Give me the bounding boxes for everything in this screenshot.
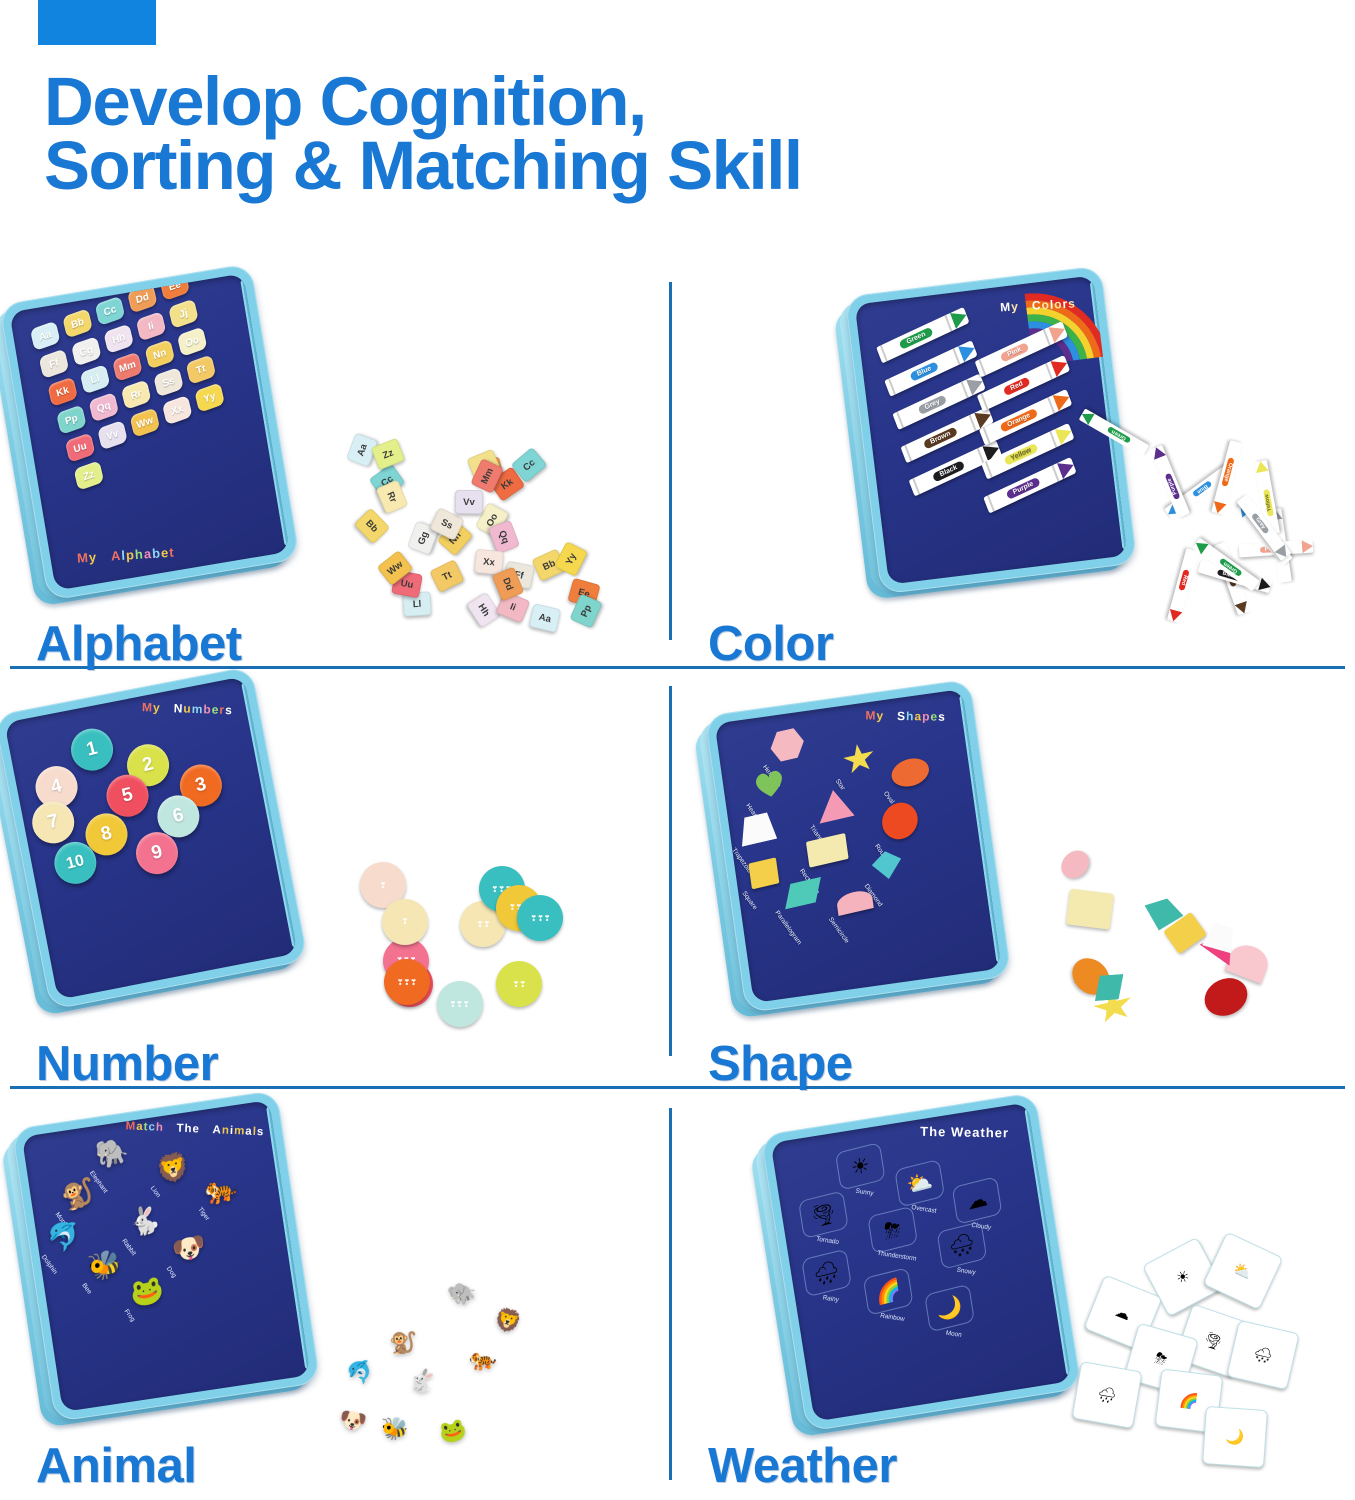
panel-label-alphabet: Alphabet (36, 616, 242, 672)
animal-tiger[interactable]: 🐅Tiger (202, 1174, 239, 1206)
crayon-label: Yellow (1003, 443, 1039, 467)
loose-animal-sticker[interactable]: 🐝 (372, 1406, 419, 1453)
alphabet-tile[interactable]: Yy (194, 382, 225, 412)
page-title: Develop Cognition, Sorting & Matching Sk… (44, 70, 1144, 198)
alphabet-tile[interactable]: Jj (168, 299, 199, 329)
loose-felt-shape[interactable] (1056, 845, 1095, 884)
weather-book-title: The Weather (920, 1124, 1009, 1141)
weather-icon: ⛈ (883, 1218, 903, 1243)
crayon-label: Purple (1164, 473, 1180, 500)
shape-semicircle[interactable]: Semicircle (836, 890, 874, 915)
alphabet-tile[interactable]: Mm (112, 352, 143, 382)
animal-icon: 🐬 (46, 1220, 83, 1255)
book-cover-face: My Numbers 12345678910 (4, 676, 297, 999)
alphabet-book-title: My Alphabet (77, 545, 175, 566)
counting-disc[interactable]: ❣❣❣ (384, 959, 430, 1005)
panel-label-color: Color (708, 616, 833, 672)
animal-icon: 🐸 (128, 1274, 165, 1309)
animal-label: Bee (80, 1282, 93, 1295)
crayon-label: Red (1179, 570, 1190, 591)
alphabet-tile[interactable]: Rr (121, 379, 152, 409)
feature-grid: AaBbCcDdEeFfGgHhIiJjKkLlMmNnOoPpQqRrSsTt… (0, 268, 1355, 1500)
alphabet-tile[interactable]: Xx (162, 395, 193, 425)
loose-animal-stickers: 🐘🦁🐒🐅🐬🐇🐶🐝🐸 (320, 1258, 610, 1468)
alphabet-tile[interactable]: Tt (186, 354, 217, 384)
accent-block (38, 0, 156, 45)
animal-bee[interactable]: 🐝Bee (86, 1250, 123, 1282)
weather-slot-snowy[interactable]: 🌨Snowy (937, 1221, 988, 1270)
panel-number[interactable]: My Numbers 12345678910 ❣❣❣❣❣❣❣❣❣❣❣❣❣❣❣❣❣… (0, 678, 669, 1098)
animal-icon: 🐇 (126, 1204, 163, 1239)
weather-slot-rainy[interactable]: 🌧Rainy (801, 1249, 852, 1298)
weather-slot-thunderstorm[interactable]: ⛈Thunderstorm (867, 1206, 918, 1255)
animal-icon: 🐝 (86, 1248, 123, 1283)
panel-shape[interactable]: My Shapes HexagonStarHeartOvalTriangleTr… (672, 678, 1355, 1098)
crayon-label: Blue (909, 361, 939, 382)
shape-diamond[interactable]: Diamond (870, 849, 904, 881)
loose-letter-tile[interactable]: Vv (455, 490, 483, 514)
alphabet-tile[interactable]: Ii (136, 311, 167, 341)
alphabet-tile[interactable]: Bb (62, 308, 93, 338)
animal-dolphin[interactable]: 🐬Dolphin (45, 1222, 82, 1254)
alphabet-tile[interactable]: Ff (39, 349, 70, 379)
alphabet-book: AaBbCcDdEeFfGgHhIiJjKkLlMmNnOoPpQqRrSsTt… (0, 263, 300, 601)
book-cover-face: My Shapes HexagonStarHeartOvalTriangleTr… (715, 689, 1002, 1003)
animal-label: Dolphin (40, 1254, 59, 1276)
shape-label: Parallelogram (773, 910, 802, 947)
alphabet-tile[interactable]: Kk (47, 377, 78, 407)
weather-slot-overcast[interactable]: ⛅Overcast (894, 1159, 945, 1208)
weather-label: Rainbow (870, 1311, 914, 1324)
book-cover: My Numbers 12345678910 (0, 666, 308, 1010)
animal-label: Lion (149, 1185, 162, 1199)
animal-elephant[interactable]: 🐘Elephant (93, 1138, 130, 1170)
counting-disc[interactable]: ❣ (382, 899, 428, 945)
book-cover: My Shapes HexagonStarHeartOvalTriangleTr… (704, 679, 1011, 1013)
alphabet-tile[interactable]: Nn (144, 339, 175, 369)
weather-label: Tornado (806, 1234, 850, 1247)
zipper (241, 682, 298, 948)
loose-animal-sticker[interactable]: 🐸 (425, 1403, 481, 1459)
panel-color[interactable]: My Colors GreenBlueGreyBrownBlack PinkRe… (672, 268, 1355, 678)
zipper (240, 279, 289, 546)
panel-label-animal: Animal (36, 1438, 196, 1494)
weather-icon: ☀ (849, 1154, 871, 1179)
weather-label: Snowy (944, 1265, 988, 1278)
weather-flashcard[interactable]: 🌨 (1226, 1320, 1299, 1390)
zipper (1024, 1108, 1071, 1376)
number-book-title: My Numbers (142, 700, 233, 717)
animal-icon: 🐘 (94, 1136, 131, 1171)
book-cover: AaBbCcDdEeFfGgHhIiJjKkLlMmNnOoPpQqRrSsTt… (0, 263, 300, 601)
loose-crayon-red[interactable]: Red (1167, 548, 1199, 623)
alphabet-tile[interactable]: Pp (56, 404, 87, 434)
weather-icon: 🌙 (935, 1295, 964, 1322)
weather-icon: ☁ (965, 1188, 989, 1214)
loose-felt-shapes (1052, 848, 1327, 1048)
counting-disc[interactable]: ❣❣❣ (517, 895, 563, 941)
counting-disc[interactable]: ❣❣ (496, 961, 542, 1007)
animal-label: Dog (165, 1265, 178, 1279)
shape-label: Square (740, 890, 758, 911)
crayon-label: Yellow (1263, 489, 1274, 517)
number-book: My Numbers 12345678910 (0, 666, 308, 1010)
panel-label-number: Number (36, 1036, 218, 1092)
headline-line-2: Sorting & Matching Skill (44, 134, 1144, 198)
weather-slot-moon[interactable]: 🌙Moon (924, 1284, 975, 1333)
weather-label: Moon (932, 1328, 976, 1341)
shape-square[interactable]: Square (748, 859, 779, 889)
animal-frog[interactable]: 🐸Frog (128, 1276, 165, 1308)
shape-star[interactable]: Star (841, 742, 877, 776)
shape-book-title: My Shapes (865, 708, 946, 723)
book-cover-face: The Weather ☀Sunny⛅Overcast☁Cloudy🌪Torna… (771, 1102, 1072, 1421)
weather-flashcard[interactable]: ⛅ (1203, 1232, 1284, 1311)
weather-slot-sunny[interactable]: ☀Sunny (835, 1142, 886, 1191)
alphabet-tile[interactable]: Ll (80, 364, 111, 394)
panel-alphabet[interactable]: AaBbCcDdEeFfGgHhIiJjKkLlMmNnOoPpQqRrSsTt… (0, 268, 669, 678)
alphabet-tile-grid: AaBbCcDdEeFfGgHhIiJjKkLlMmNnOoPpQqRrSsTt… (9, 273, 243, 312)
weather-icon: 🌈 (874, 1278, 903, 1305)
animal-icon: 🐅 (202, 1172, 239, 1207)
loose-letter-tile[interactable]: Tt (429, 559, 465, 593)
grid-row-3: Match The Animals 🐘Elephant🦁Lion🐒Monkey🐅… (0, 1098, 1355, 1500)
panel-weather[interactable]: The Weather ☀Sunny⛅Overcast☁Cloudy🌪Torna… (672, 1098, 1355, 1500)
animal-book-title: Match The Animals (126, 1120, 265, 1138)
loose-felt-shape[interactable] (1199, 972, 1254, 1023)
crayon-label: Brown (923, 426, 959, 450)
alphabet-tile[interactable]: Uu (65, 432, 96, 462)
alphabet-tile[interactable]: Ww (130, 407, 161, 437)
shape-rectangle[interactable]: Rectangle (806, 835, 849, 866)
weather-icon: ⛅ (905, 1170, 934, 1197)
alphabet-tile[interactable]: Dd (127, 283, 158, 313)
book-cover: Match The Animals 🐘Elephant🦁Lion🐒Monkey🐅… (12, 1090, 321, 1422)
animal-icon: 🐶 (171, 1232, 208, 1267)
animal-rabbit[interactable]: 🐇Rabbit (126, 1205, 163, 1237)
panel-animal[interactable]: Match The Animals 🐘Elephant🦁Lion🐒Monkey🐅… (0, 1098, 669, 1500)
alphabet-tile[interactable]: Ee (159, 273, 190, 301)
loose-weather-flashcards: ☀⛅☁🌪⛈🌨🌧🌈🌙 (1072, 1238, 1352, 1468)
weather-icon: 🌧 (812, 1259, 841, 1286)
shape-oval[interactable]: Oval (890, 756, 931, 788)
animal-label: Frog (123, 1308, 137, 1323)
weather-icon: 🌪 (809, 1201, 838, 1228)
weather-book: The Weather ☀Sunny⛅Overcast☁Cloudy🌪Torna… (760, 1092, 1082, 1432)
loose-crayon-pieces: GreenBlueGreyBrownBlackPinkRedOrangeYell… (1072, 418, 1342, 628)
zipper (959, 694, 1001, 962)
shape-trapezoid[interactable]: Trapezoid (738, 812, 778, 845)
animal-label: Rabbit (120, 1238, 137, 1257)
crayon-label: Purple (1005, 477, 1041, 501)
weather-slot-rainbow[interactable]: 🌈Rainbow (863, 1267, 914, 1316)
animal-book: Match The Animals 🐘Elephant🦁Lion🐒Monkey🐅… (12, 1090, 321, 1422)
alphabet-tile[interactable]: Ss (153, 367, 184, 397)
animal-label: Tiger (196, 1206, 210, 1222)
animal-icon: 🐒 (59, 1178, 96, 1213)
crayon-label: Orange (1222, 457, 1235, 487)
counting-disc[interactable]: ❣❣❣ (437, 981, 483, 1027)
weather-label: Sunny (843, 1186, 887, 1199)
alphabet-tile[interactable]: Cc (95, 296, 126, 326)
panel-label-shape: Shape (708, 1036, 853, 1092)
weather-icon: 🌨 (947, 1232, 976, 1259)
alphabet-tile[interactable]: Qq (88, 392, 119, 422)
loose-counting-discs: ❣❣❣❣❣❣❣❣❣❣❣❣❣❣❣❣❣❣❣❣❣❣❣❣❣ (350, 856, 610, 1046)
animal-lion[interactable]: 🦁Lion (154, 1153, 191, 1185)
alphabet-tile[interactable]: Oo (177, 326, 208, 356)
crayon-label: Green (1106, 426, 1131, 444)
loose-letter-tile[interactable]: Bb (353, 508, 390, 545)
zipper (266, 1106, 310, 1370)
weather-slot-cloudy[interactable]: ☁Cloudy (952, 1176, 1003, 1225)
number-circle-7[interactable]: 7 (28, 797, 79, 848)
panel-label-weather: Weather (708, 1438, 897, 1494)
shape-parallelogram[interactable]: Parallelogram (782, 878, 825, 907)
crayon-label: Red (1003, 376, 1031, 396)
crayon-label: Orange (1000, 408, 1038, 433)
alphabet-tile[interactable]: Vv (97, 420, 128, 450)
number-circle-1[interactable]: 1 (67, 724, 118, 775)
animal-dog[interactable]: 🐶Dog (170, 1233, 207, 1265)
book-cover: The Weather ☀Sunny⛅Overcast☁Cloudy🌪Torna… (760, 1092, 1082, 1432)
animal-icon: 🦁 (155, 1151, 192, 1186)
crayon-label: Blue (1192, 480, 1213, 498)
crayon-label: Grey (917, 394, 947, 415)
crayon-label: Black (932, 460, 965, 482)
weather-label: Thunderstorm (875, 1250, 919, 1263)
book-cover-face: Match The Animals 🐘Elephant🦁Lion🐒Monkey🐅… (22, 1100, 310, 1412)
loose-letter-tiles: AaBbCcDdEeFfGgHhIiJjKkLlMmNnOoPpQqRrSsTt… (330, 428, 630, 648)
weather-flashcard[interactable]: 🌧 (1071, 1361, 1142, 1429)
grid-row-2: My Numbers 12345678910 ❣❣❣❣❣❣❣❣❣❣❣❣❣❣❣❣❣… (0, 678, 1355, 1098)
shape-label: Semicircle (827, 916, 850, 944)
alphabet-tile[interactable]: Hh (103, 324, 134, 354)
weather-flashcard[interactable]: 🌙 (1202, 1406, 1268, 1468)
shape-triangle[interactable]: Triangle (815, 787, 855, 822)
shape-book: My Shapes HexagonStarHeartOvalTriangleTr… (704, 679, 1011, 1013)
grid-row-1: AaBbCcDdEeFfGgHhIiJjKkLlMmNnOoPpQqRrSsTt… (0, 268, 1355, 678)
weather-slot-tornado[interactable]: 🌪Tornado (798, 1190, 849, 1239)
shape-round[interactable]: Round (880, 801, 921, 842)
animal-monkey[interactable]: 🐒Monkey (59, 1179, 96, 1211)
rainbow-graphic (949, 276, 1113, 374)
alphabet-tile[interactable]: Zz (74, 460, 105, 490)
alphabet-tile[interactable]: Aa (30, 321, 61, 351)
crayon-label: Green (899, 327, 933, 350)
weather-label: Rainy (809, 1292, 853, 1305)
loose-animal-sticker[interactable]: 🐅 (457, 1333, 510, 1386)
shape-heart[interactable]: Heart (752, 769, 788, 801)
loose-felt-shape[interactable] (1066, 889, 1114, 930)
alphabet-tile[interactable]: Gg (71, 336, 102, 366)
book-cover-face: AaBbCcDdEeFfGgHhIiJjKkLlMmNnOoPpQqRrSsTt… (9, 273, 289, 590)
shape-hexagon[interactable]: Hexagon (768, 728, 806, 762)
loose-letter-tile[interactable]: Aa (529, 603, 562, 633)
